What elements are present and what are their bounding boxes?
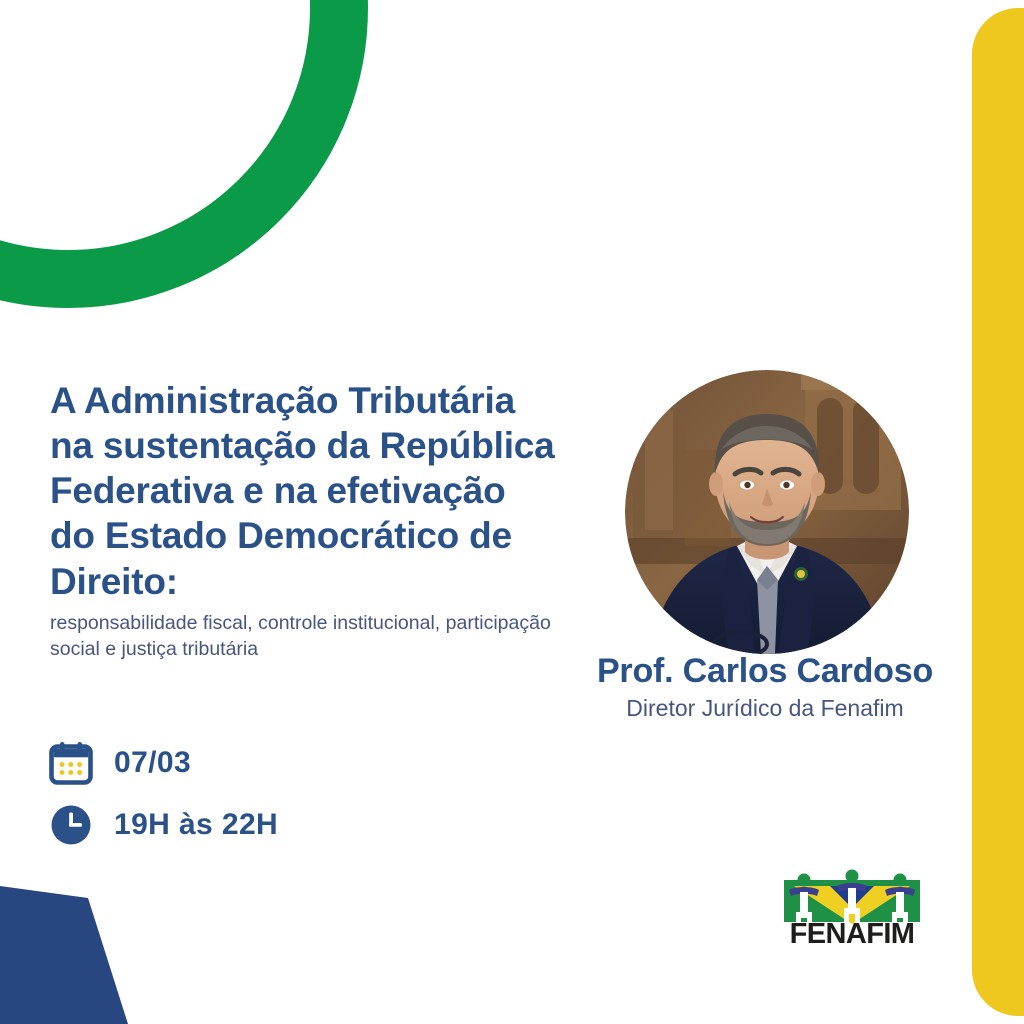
fenafim-wordmark: FENAFIM: [778, 918, 926, 951]
page-title: A Administração Tributária na sustentaçã…: [50, 378, 560, 604]
date-row: 07/03: [48, 732, 278, 794]
page-subtitle: responsabilidade fiscal, controle instit…: [50, 610, 560, 662]
green-ring-decoration: [0, 0, 368, 308]
clock-icon: [48, 802, 94, 848]
date-label: 07/03: [114, 746, 191, 780]
yellow-bar-decoration: [972, 8, 1024, 1016]
avatar: [625, 370, 909, 654]
speaker-name: Prof. Carlos Cardoso: [500, 652, 1024, 691]
title-block: A Administração Tributária na sustentaçã…: [50, 378, 560, 662]
event-poster: A Administração Tributária na sustentaçã…: [0, 0, 1024, 1024]
time-label: 19H às 22H: [114, 808, 278, 842]
portrait-photo: [625, 370, 909, 654]
speaker-role: Diretor Jurídico da Fenafim: [500, 695, 1024, 722]
calendar-icon: [48, 740, 94, 786]
time-row: 19H às 22H: [48, 794, 278, 856]
blue-polygon-decoration: [0, 864, 240, 1024]
schedule-block: 07/03 19H às 22H: [48, 732, 278, 856]
